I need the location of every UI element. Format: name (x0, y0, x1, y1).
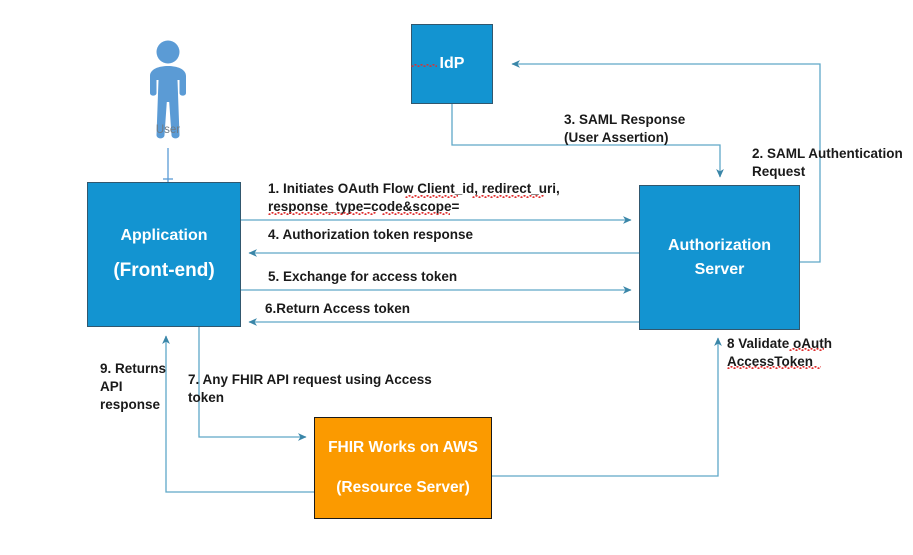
node-application-label-line2: (Front-end) (113, 257, 214, 285)
node-authorization-server-label-line2: Server (695, 258, 745, 281)
node-authorization-server[interactable]: Authorization Server (639, 185, 800, 330)
node-authorization-server-label-line1: Authorization (668, 234, 771, 257)
node-resource-server[interactable]: FHIR Works on AWS (Resource Server) (314, 417, 492, 519)
step-9-label: 9. Returns API response (100, 360, 174, 413)
connector-step-9 (166, 336, 314, 492)
step-5-label: 5. Exchange for access token (268, 268, 568, 286)
connector-step-8 (492, 338, 718, 476)
flow-diagram: IdP Application (Front-end) Authorizatio… (0, 0, 913, 555)
node-application-label-line1: Application (120, 224, 207, 247)
step-7-label: 7. Any FHIR API request using Access tok… (188, 371, 468, 407)
spellcheck-squiggle-accesstoken (727, 366, 821, 369)
node-resource-server-label-line1: FHIR Works on AWS (328, 437, 478, 459)
node-resource-server-label-line2: (Resource Server) (336, 477, 470, 499)
spellcheck-squiggle-client-id (405, 195, 458, 198)
step-6-label: 6.Return Access token (265, 300, 565, 318)
node-application[interactable]: Application (Front-end) (87, 182, 241, 327)
connector-user-application (163, 148, 173, 182)
spellcheck-squiggle-response-type (268, 212, 376, 215)
node-user-label: User (138, 124, 198, 136)
step-2-label: 2. SAML Authentication Request (752, 145, 913, 181)
spellcheck-squiggle-oauth (789, 348, 824, 351)
node-idp-label: IdP (440, 52, 465, 75)
spellcheck-squiggle-idp (411, 64, 437, 67)
spellcheck-squiggle-scope (382, 212, 450, 215)
spellcheck-squiggle-redirect-uri (472, 195, 544, 198)
step-4-label: 4. Authorization token response (268, 226, 568, 244)
step-3-label: 3. SAML Response (User Assertion) (564, 111, 744, 147)
